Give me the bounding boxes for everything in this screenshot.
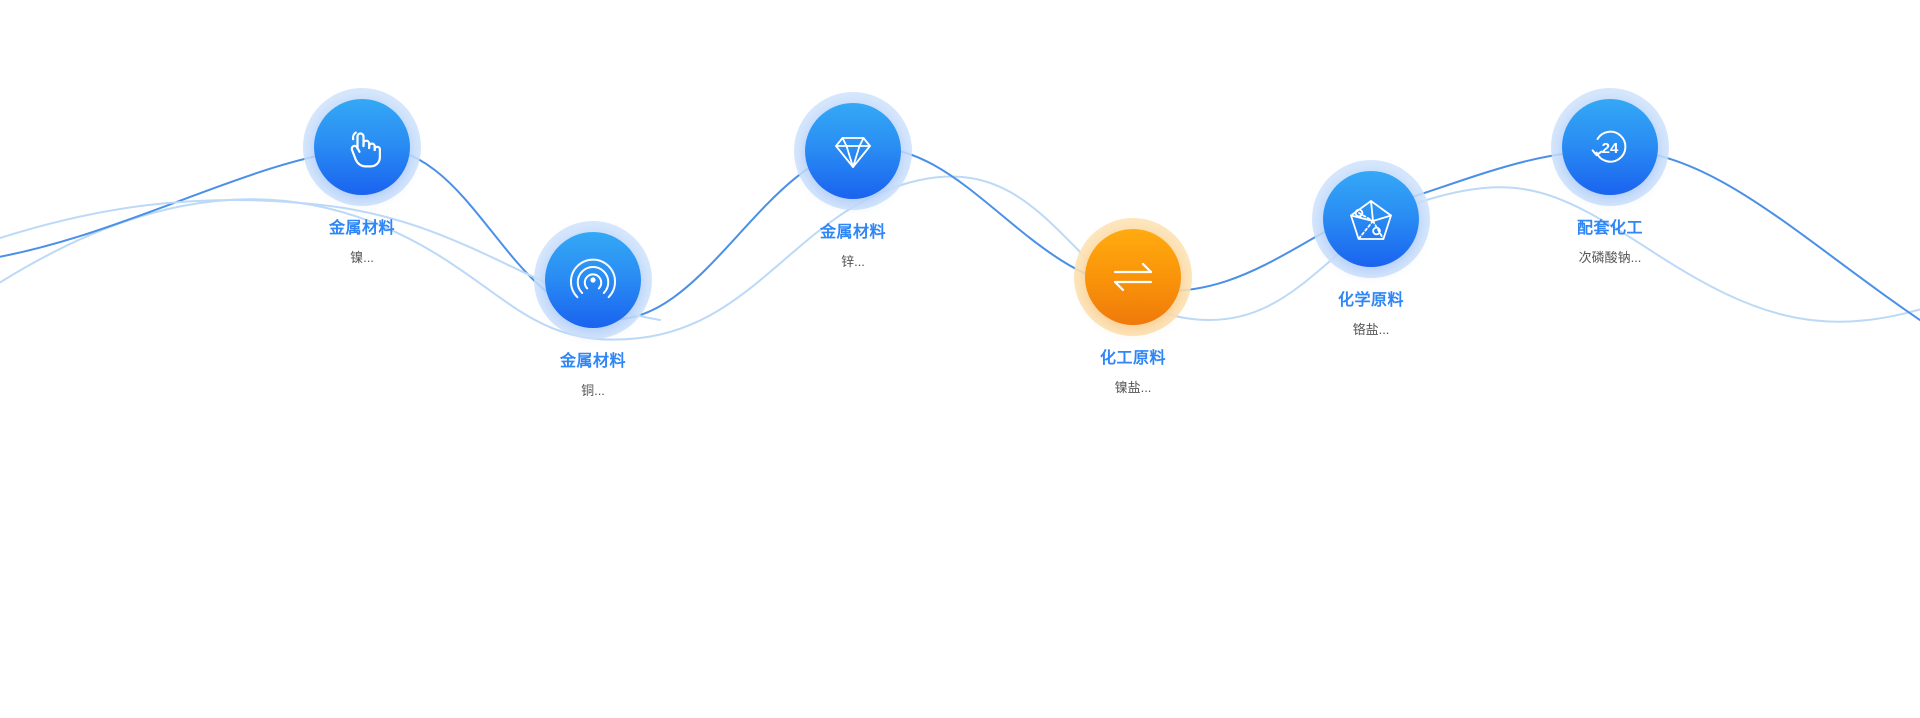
hand-click-icon: [338, 123, 386, 171]
node-orb[interactable]: [1323, 171, 1419, 267]
node-subtitle: 镍盐...: [1043, 380, 1223, 396]
node-title: 金属材料: [272, 219, 452, 238]
flow-node-3[interactable]: 金属材料 锌...: [763, 92, 943, 270]
radar-signal-icon: [568, 255, 618, 305]
diamond-gem-icon: [828, 126, 878, 176]
node-orb[interactable]: [1085, 229, 1181, 325]
node-orb-wrapper[interactable]: [1312, 160, 1430, 278]
node-orb[interactable]: 24: [1562, 99, 1658, 195]
flow-node-2[interactable]: 金属材料 铜...: [503, 221, 683, 399]
node-subtitle: 铬盐...: [1281, 322, 1461, 338]
node-orb[interactable]: [545, 232, 641, 328]
supply-chain-flow-canvas: 金属材料 镍... 金属材料 铜...: [0, 0, 1920, 718]
node-subtitle: 次磷酸钠...: [1520, 250, 1700, 266]
node-orb-wrapper[interactable]: 24: [1551, 88, 1669, 206]
flow-node-6[interactable]: 24 配套化工 次磷酸钠...: [1520, 88, 1700, 266]
node-title: 化工原料: [1043, 349, 1223, 368]
node-title: 金属材料: [763, 223, 943, 242]
node-title: 配套化工: [1520, 219, 1700, 238]
node-title: 金属材料: [503, 352, 683, 371]
node-subtitle: 铜...: [503, 383, 683, 399]
flow-node-5[interactable]: 化学原料 铬盐...: [1281, 160, 1461, 338]
node-orb-wrapper[interactable]: [303, 88, 421, 206]
node-orb-wrapper[interactable]: [534, 221, 652, 339]
flow-node-1[interactable]: 金属材料 镍...: [272, 88, 452, 266]
molecule-pentagon-icon: [1346, 194, 1396, 244]
flow-node-4[interactable]: 化工原料 镍盐...: [1043, 218, 1223, 396]
node-subtitle: 锌...: [763, 254, 943, 270]
node-orb-wrapper[interactable]: [1074, 218, 1192, 336]
node-orb[interactable]: [314, 99, 410, 195]
node-orb-wrapper[interactable]: [794, 92, 912, 210]
svg-text:24: 24: [1602, 140, 1619, 157]
node-subtitle: 镍...: [272, 250, 452, 266]
node-orb[interactable]: [805, 103, 901, 199]
node-title: 化学原料: [1281, 291, 1461, 310]
twenty-four-hour-icon: 24: [1585, 122, 1635, 172]
reversible-reaction-icon: [1107, 251, 1159, 303]
